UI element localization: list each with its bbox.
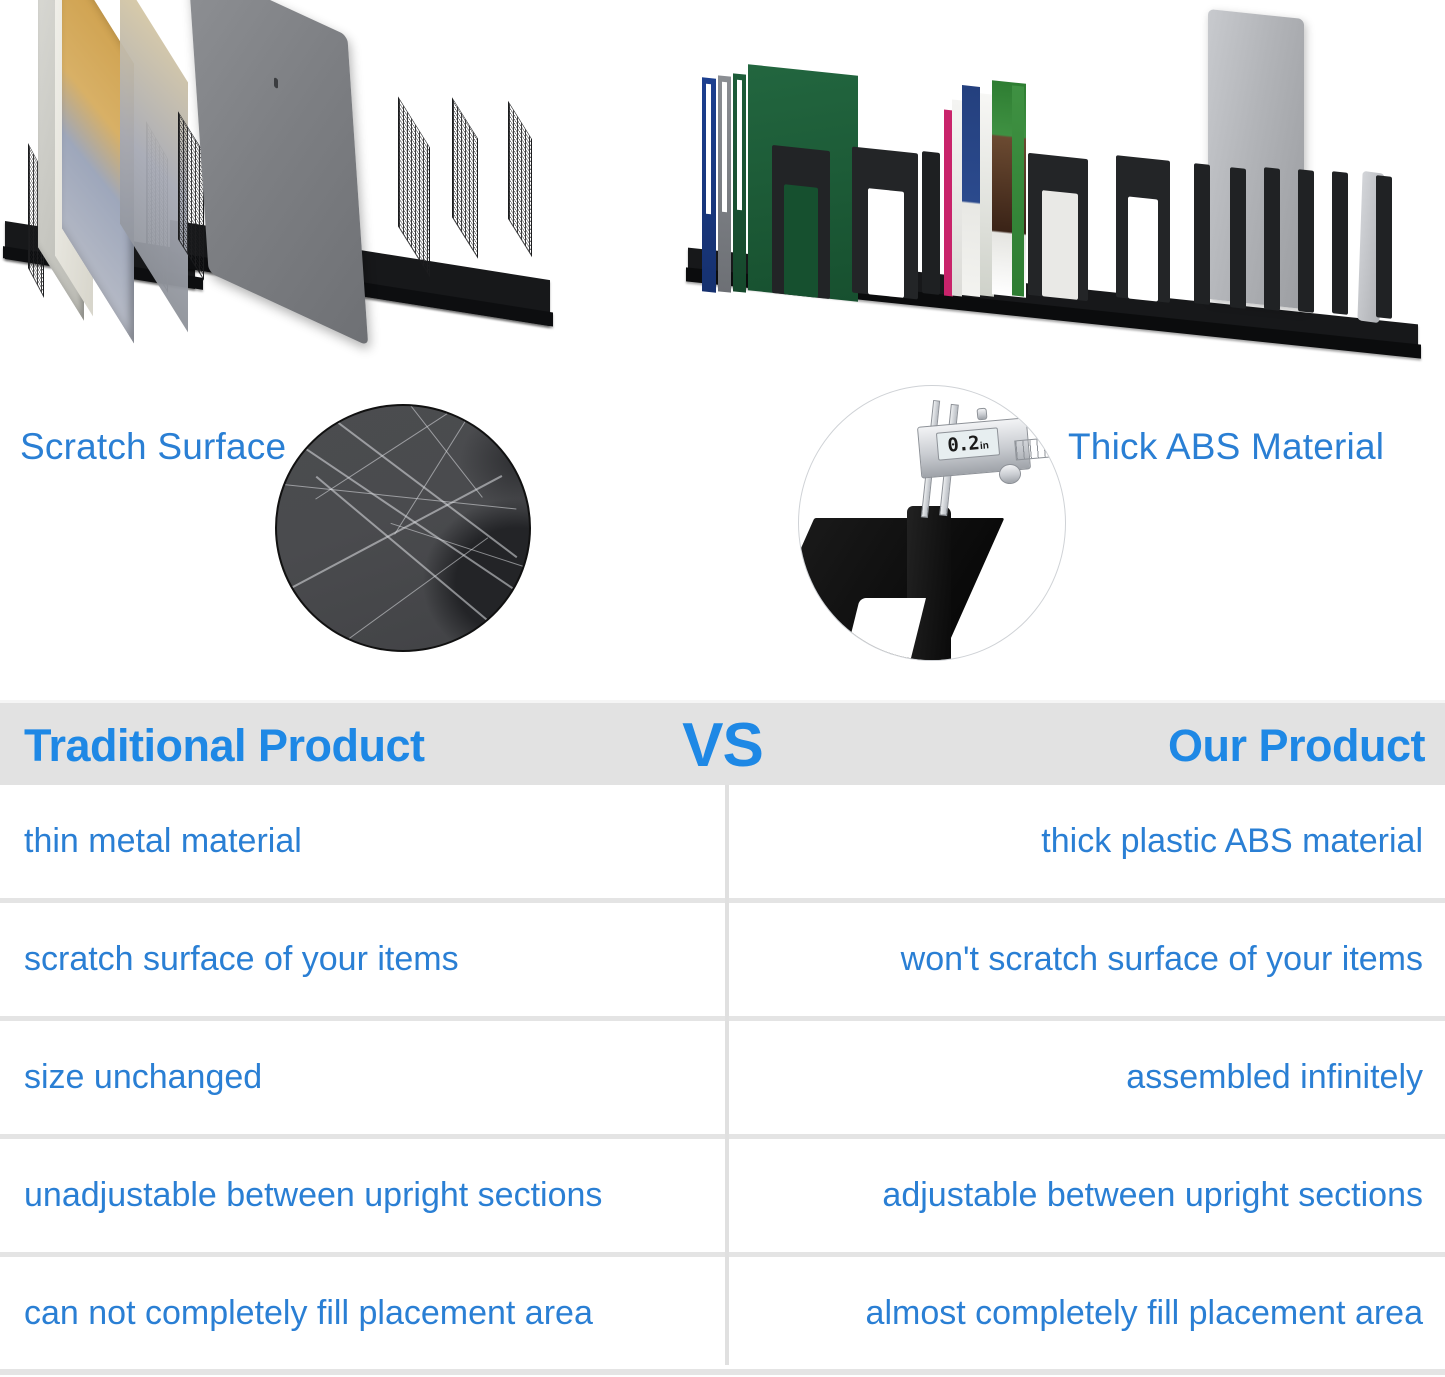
table-row: unadjustable between upright sections ad… (0, 1139, 1445, 1257)
table-row: can not completely fill placement area a… (0, 1257, 1445, 1375)
cell-traditional: scratch surface of your items (0, 903, 725, 1016)
table-row: thin metal material thick plastic ABS ma… (0, 785, 1445, 903)
caliper-reading: 0.2 (947, 432, 980, 457)
cell-ours: assembled infinitely (725, 1021, 1445, 1134)
cell-ours: thick plastic ABS material (725, 785, 1445, 898)
comparison-table: Traditional Product VS Our Product thin … (0, 700, 1445, 1365)
traditional-product-photo (0, 0, 600, 340)
cell-ours: almost completely fill placement area (725, 1257, 1445, 1369)
thick-abs-material-image: 0.2 in (798, 385, 1066, 661)
cell-traditional: can not completely fill placement area (0, 1257, 725, 1369)
table-row: size unchanged assembled infinitely (0, 1021, 1445, 1139)
cell-traditional: thin metal material (0, 785, 725, 898)
cell-ours: won't scratch surface of your items (725, 903, 1445, 1016)
column-divider (725, 785, 729, 1365)
product-comparison-infographic: Scratch Surface Thick ABS Material (0, 0, 1445, 1377)
header-our-product: Our Product (1168, 703, 1425, 788)
caliper-unit: in (979, 440, 989, 452)
comparison-table-header: Traditional Product VS Our Product (0, 700, 1445, 785)
scratch-surface-label: Scratch Surface (20, 428, 286, 465)
scratch-surface-image (275, 404, 531, 652)
cell-traditional: size unchanged (0, 1021, 725, 1134)
thick-abs-material-label: Thick ABS Material (1068, 428, 1384, 465)
our-product-photo (660, 0, 1445, 380)
cell-traditional: unadjustable between upright sections (0, 1139, 725, 1252)
product-photo-row (0, 0, 1445, 385)
cell-ours: adjustable between upright sections (725, 1139, 1445, 1252)
comparison-table-body: thin metal material thick plastic ABS ma… (0, 785, 1445, 1365)
table-row: scratch surface of your items won't scra… (0, 903, 1445, 1021)
